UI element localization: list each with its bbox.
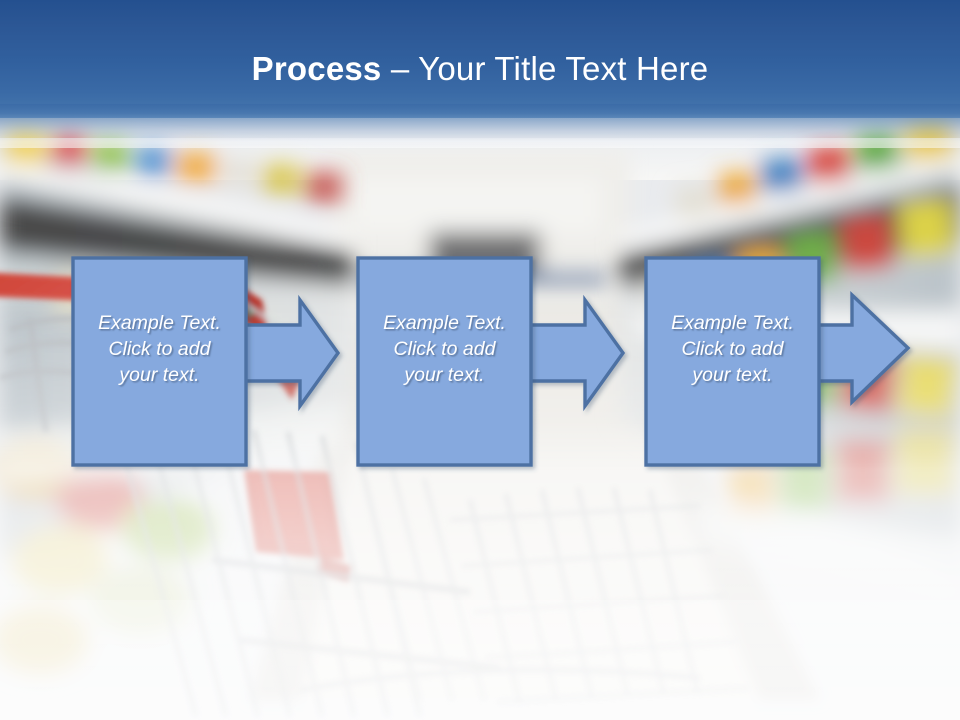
slide-canvas: Process – Your Title Text Here <box>0 0 960 720</box>
step-2-line-3: your text. <box>358 362 531 388</box>
step-1-line-1: Example Text. <box>73 310 246 336</box>
step-2-arrow-shape <box>525 300 623 406</box>
step-3-line-2: Click to add <box>646 336 819 362</box>
step-2-text[interactable]: Example Text. Click to add your text. <box>358 310 531 388</box>
step-1-line-3: your text. <box>73 362 246 388</box>
step-1-line-2: Click to add <box>73 336 246 362</box>
step-1-arrow-shape <box>240 300 338 406</box>
step-1-text[interactable]: Example Text. Click to add your text. <box>73 310 246 388</box>
step-2-line-1: Example Text. <box>358 310 531 336</box>
step-3-line-3: your text. <box>646 362 819 388</box>
step-2-line-2: Click to add <box>358 336 531 362</box>
process-diagram: Example Text. Click to add your text. Ex… <box>0 0 960 720</box>
step-3-arrow-shape <box>813 295 908 402</box>
step-3-text[interactable]: Example Text. Click to add your text. <box>646 310 819 388</box>
step-3-line-1: Example Text. <box>646 310 819 336</box>
